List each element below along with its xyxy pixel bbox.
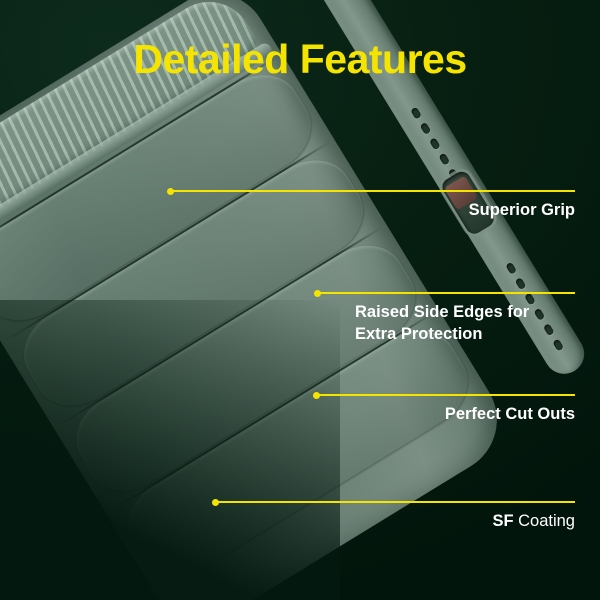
product-image-phone-case	[0, 0, 600, 600]
leader-dot	[212, 499, 219, 506]
sf-coating-regular: Coating	[514, 512, 575, 530]
leader-dot	[313, 392, 320, 399]
leader-line	[215, 501, 575, 503]
callout-label-line: Extra Protection	[355, 324, 529, 346]
callout-label-sf-coating: SF Coating	[275, 511, 575, 533]
leader-line	[170, 190, 575, 192]
leader-line	[316, 394, 575, 396]
callout-label-perfect-cut-outs: Perfect Cut Outs	[275, 404, 575, 426]
leader-dot	[314, 290, 321, 297]
sf-coating-bold: SF	[492, 512, 513, 530]
leader-dot	[167, 188, 174, 195]
page-title: Detailed Features	[0, 36, 600, 83]
product-feature-poster: Detailed Features Superior Grip Raised S…	[0, 0, 600, 600]
callout-label-superior-grip: Superior Grip	[275, 200, 575, 222]
callout-label-line: Raised Side Edges for	[355, 302, 529, 324]
callout-label-raised-side-edges: Raised Side Edges for Extra Protection	[355, 302, 529, 346]
leader-line	[317, 292, 575, 294]
